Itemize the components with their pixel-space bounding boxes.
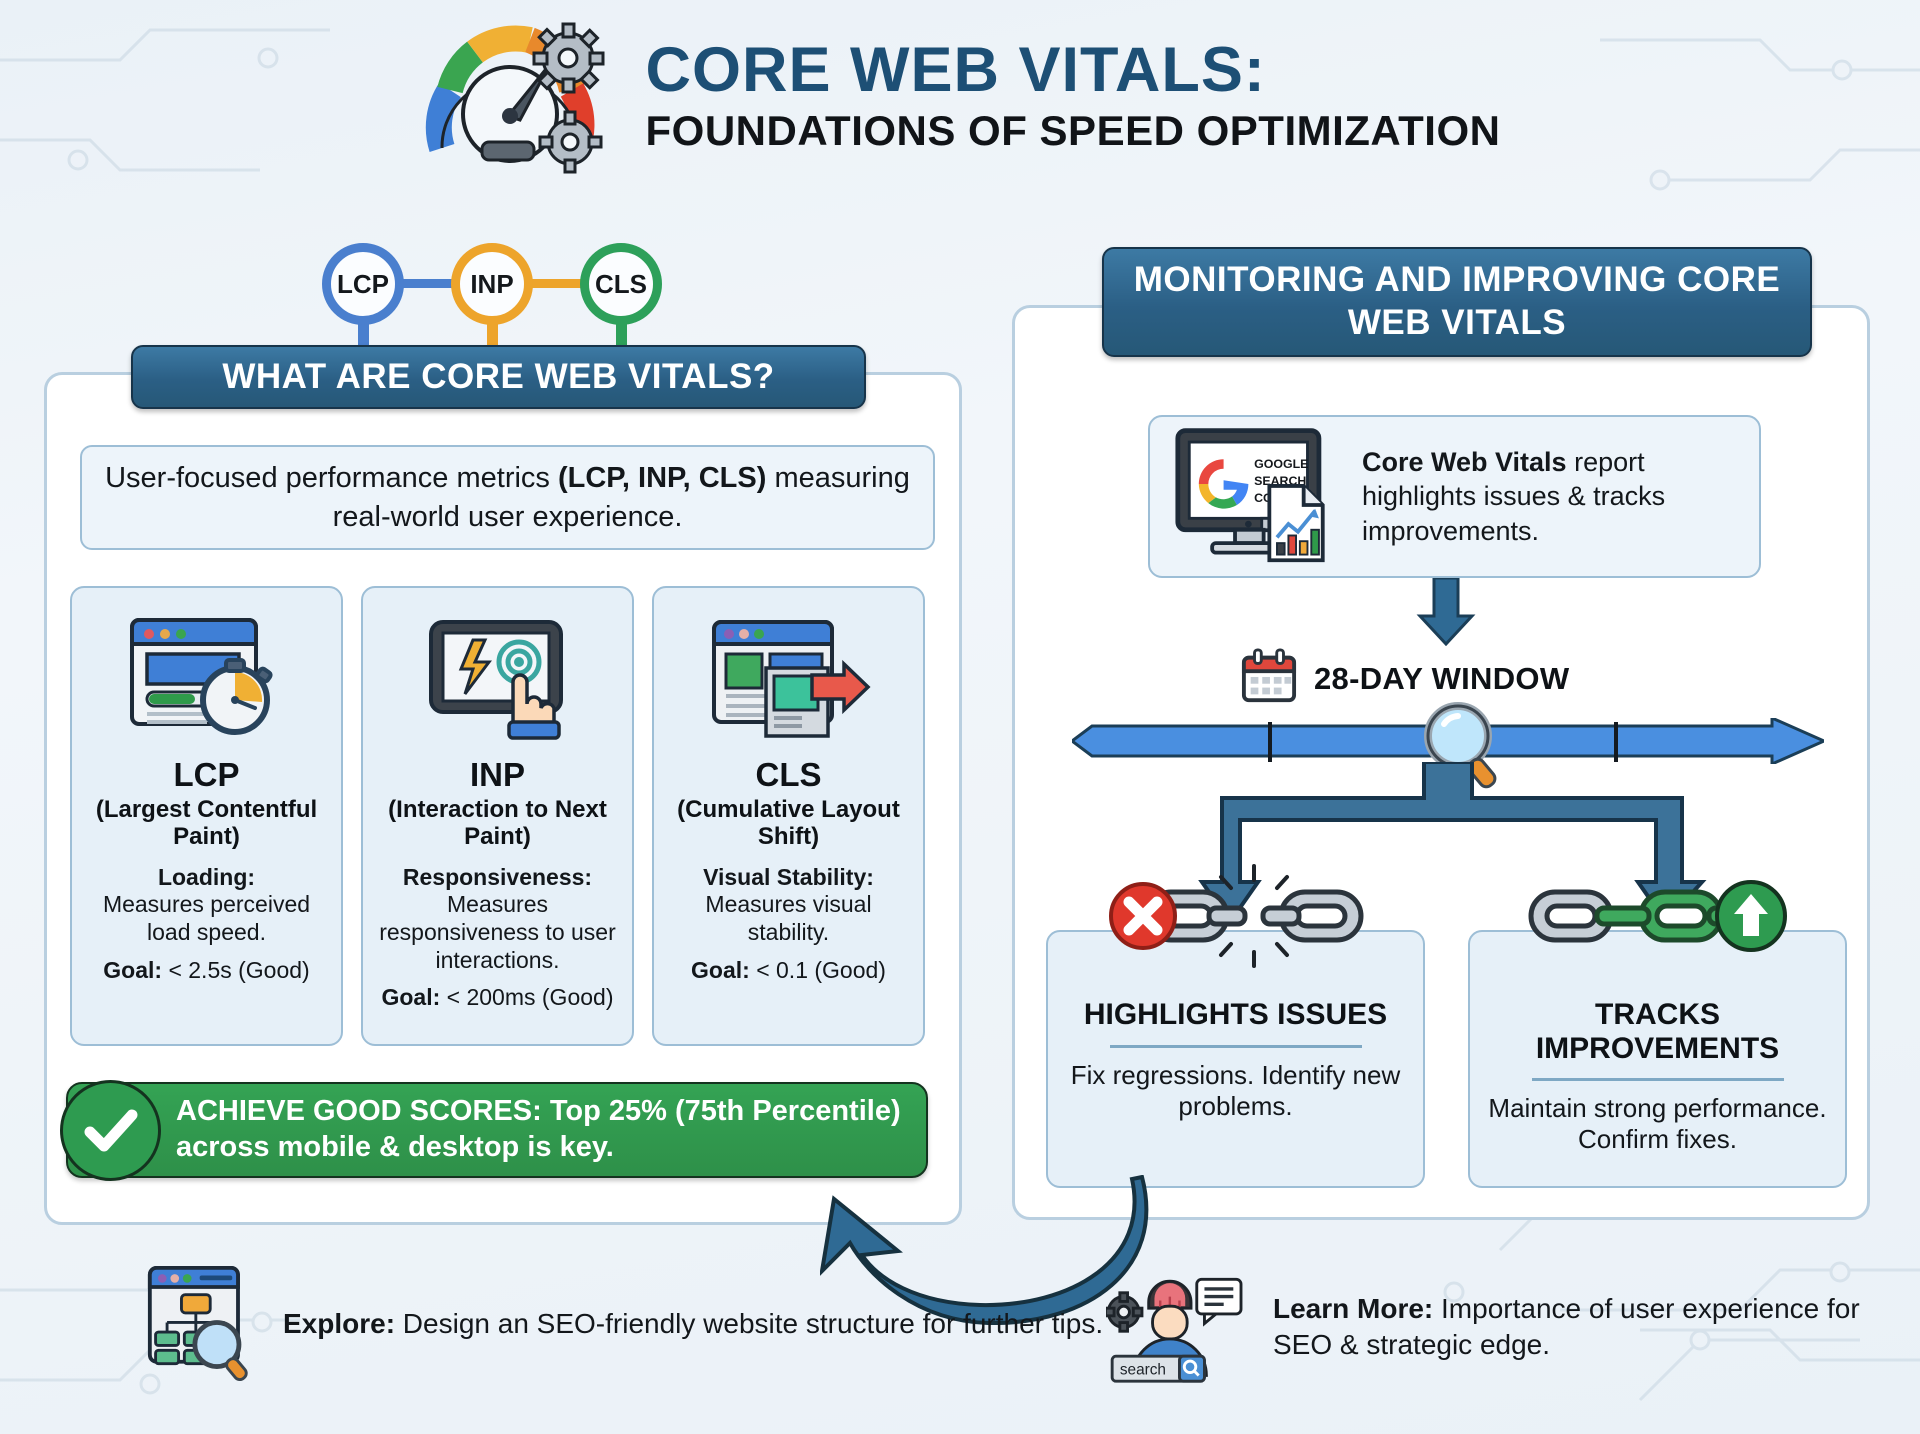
window-label: 28-DAY WINDOW xyxy=(1314,661,1569,697)
outcome-title: TRACKS IMPROVEMENTS xyxy=(1470,998,1845,1065)
achieve-good-scores-banner: ACHIEVE GOOD SCORES: Top 25% (75th Perce… xyxy=(66,1082,928,1178)
chip-cls-label: CLS xyxy=(595,269,647,300)
linked-chain-up-arrow-icon xyxy=(1513,864,1803,979)
metric-lead: Visual Stability: xyxy=(703,864,874,891)
layout-shift-arrow-icon xyxy=(704,602,874,752)
chip-lcp-label: LCP xyxy=(337,269,389,300)
footer-learn-more: search Learn More: Importance of user ex… xyxy=(1106,1262,1920,1392)
metric-abbr: LCP xyxy=(174,756,240,794)
search-placeholder-text: search xyxy=(1120,1362,1166,1379)
metric-goal-label: Goal: xyxy=(103,957,162,983)
broken-chain-error-icon xyxy=(1091,864,1381,979)
footer-explore-bold: Explore: xyxy=(283,1308,395,1339)
page-subtitle: FOUNDATIONS OF SPEED OPTIMIZATION xyxy=(646,109,1501,153)
metric-desc: Measures responsiveness to user interact… xyxy=(373,891,622,974)
user-brain-search-icon: search xyxy=(1106,1262,1251,1392)
outcome-desc: Fix regressions. Identify new problems. xyxy=(1048,1060,1423,1122)
metric-lead: Responsiveness: xyxy=(403,864,592,891)
intro-box: User-focused performance metrics (LCP, I… xyxy=(80,445,935,550)
footer-learn-bold: Learn More: xyxy=(1273,1293,1433,1324)
achieve-lead: ACHIEVE GOOD SCORES: xyxy=(176,1095,542,1127)
outcome-title: HIGHLIGHTS ISSUES xyxy=(1084,998,1387,1032)
metric-goal: Goal: < 2.5s (Good) xyxy=(103,957,309,985)
google-search-console-monitor-icon: GOOGLESEARCHCONSOLE xyxy=(1166,423,1346,571)
metric-full-name: (Largest Contentful Paint) xyxy=(82,796,331,850)
left-panel-banner: WHAT ARE CORE WEB VITALS? xyxy=(131,345,866,409)
chip-inp-label: INP xyxy=(470,269,513,300)
metric-goal-value: < 0.1 (Good) xyxy=(756,957,886,983)
gsc-report-card: GOOGLESEARCHCONSOLE Core xyxy=(1148,415,1761,578)
intro-before: User-focused performance metrics xyxy=(105,462,558,494)
metric-full-name: (Interaction to Next Paint) xyxy=(373,796,622,850)
metric-goal: Goal: < 0.1 (Good) xyxy=(691,957,886,985)
metric-card-inp: INP (Interaction to Next Paint) Responsi… xyxy=(361,586,634,1046)
footer-explore: Explore: Design an SEO-friendly website … xyxy=(146,1262,1103,1387)
metric-lead: Loading: xyxy=(158,864,255,891)
chip-lcp[interactable]: LCP xyxy=(322,243,404,325)
footer-explore-rest: Design an SEO-friendly website structure… xyxy=(395,1308,1103,1339)
check-circle-icon xyxy=(60,1080,161,1181)
metric-chips: LCP INP CLS xyxy=(322,243,662,353)
chip-cls[interactable]: CLS xyxy=(580,243,662,325)
metric-goal-value: < 200ms (Good) xyxy=(447,984,614,1010)
header: CORE WEB VITALS: FOUNDATIONS OF SPEED OP… xyxy=(0,8,1920,183)
svg-text:GOOGLE: GOOGLE xyxy=(1254,456,1308,470)
metric-goal-label: Goal: xyxy=(691,957,750,983)
window-label-row: 28-DAY WINDOW xyxy=(1240,648,1569,709)
calendar-icon xyxy=(1240,648,1298,709)
metric-full-name: (Cumulative Layout Shift) xyxy=(664,796,913,850)
gsc-bold: Core Web Vitals xyxy=(1362,447,1567,477)
divider xyxy=(1110,1045,1362,1048)
metric-goal-value: < 2.5s (Good) xyxy=(168,957,309,983)
page-title: CORE WEB VITALS: xyxy=(646,38,1266,102)
metric-desc: Measures perceived load speed. xyxy=(82,891,331,946)
browser-stopwatch-icon xyxy=(122,602,292,752)
sitemap-magnifier-icon xyxy=(146,1262,261,1387)
outcome-desc: Maintain strong performance. Confirm fix… xyxy=(1470,1093,1845,1155)
footer-learn-more-text: Learn More: Importance of user experienc… xyxy=(1273,1291,1920,1364)
metric-abbr: CLS xyxy=(756,756,822,794)
metric-card-cls: CLS (Cumulative Layout Shift) Visual Sta… xyxy=(652,586,925,1046)
speedometer-gears-icon xyxy=(420,16,620,176)
metric-cards: LCP (Largest Contentful Paint) Loading: … xyxy=(70,586,925,1046)
outcome-card-highlights-issues: HIGHLIGHTS ISSUES Fix regressions. Ident… xyxy=(1046,930,1425,1188)
metric-goal: Goal: < 200ms (Good) xyxy=(381,984,613,1012)
metric-card-lcp: LCP (Largest Contentful Paint) Loading: … xyxy=(70,586,343,1046)
footer-explore-text: Explore: Design an SEO-friendly website … xyxy=(283,1306,1103,1342)
metric-abbr: INP xyxy=(470,756,525,794)
metric-desc: Measures visual stability. xyxy=(664,891,913,946)
divider xyxy=(1532,1078,1784,1081)
infographic-canvas: CORE WEB VITALS: FOUNDATIONS OF SPEED OP… xyxy=(0,0,1920,1434)
right-panel-banner: MONITORING AND IMPROVING CORE WEB VITALS xyxy=(1102,247,1812,357)
gsc-report-text: Core Web Vitals report highlights issues… xyxy=(1362,445,1743,547)
metric-goal-label: Goal: xyxy=(381,984,440,1010)
chip-inp[interactable]: INP xyxy=(451,243,533,325)
intro-bold: (LCP, INP, CLS) xyxy=(558,462,766,494)
tablet-tap-lightning-icon xyxy=(413,602,583,752)
arrow-down-to-window xyxy=(1410,578,1482,646)
outcome-card-tracks-improvements: TRACKS IMPROVEMENTS Maintain strong perf… xyxy=(1468,930,1847,1188)
